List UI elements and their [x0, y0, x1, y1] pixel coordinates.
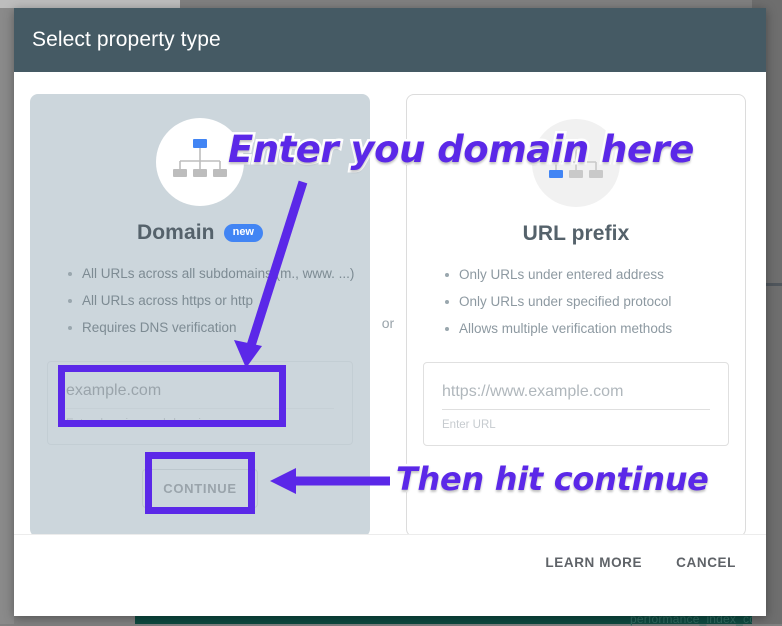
domain-card-title-row: Domain new [137, 220, 263, 246]
list-item: Allows multiple verification methods [445, 319, 672, 339]
url-prefix-hierarchy-icon [532, 119, 620, 207]
domain-input-hint: Enter domain or subdomain [66, 418, 334, 430]
cancel-button[interactable]: CANCEL [666, 546, 746, 579]
list-item: All URLs across all subdomains (m., www.… [68, 264, 354, 284]
background-top-strip [0, 0, 180, 8]
url-prefix-input[interactable]: https://www.example.com [442, 383, 710, 410]
list-item: Requires DNS verification [68, 318, 354, 338]
domain-hierarchy-icon [156, 118, 244, 206]
url-prefix-input-zone[interactable]: https://www.example.com Enter URL [423, 362, 729, 446]
dialog-body: Domain new All URLs across all subdomain… [14, 72, 766, 537]
url-prefix-card-title-row: URL prefix [523, 221, 630, 247]
list-item: All URLs across https or http [68, 291, 354, 311]
list-item: Only URLs under specified protocol [445, 292, 672, 312]
status-badge: new [224, 224, 263, 242]
learn-more-button[interactable]: LEARN MORE [535, 546, 652, 579]
page-title: Select property type [32, 28, 221, 52]
dialog-footer: LEARN MORE CANCEL [14, 534, 766, 590]
domain-card-bullets: All URLs across all subdomains (m., www.… [30, 264, 354, 345]
dialog-header: Select property type [14, 8, 766, 72]
url-prefix-card-title: URL prefix [523, 222, 630, 246]
domain-card-title: Domain [137, 221, 215, 245]
url-prefix-input-hint: Enter URL [442, 419, 710, 431]
property-card-domain[interactable]: Domain new All URLs across all subdomain… [30, 94, 370, 537]
or-separator: or [370, 315, 406, 331]
property-card-url-prefix[interactable]: URL prefix Only URLs under entered addre… [406, 94, 746, 537]
list-item: Only URLs under entered address [445, 265, 672, 285]
domain-input-zone[interactable]: example.com Enter domain or subdomain [47, 361, 353, 445]
select-property-type-dialog: Select property type Domain new All URLs… [14, 8, 766, 616]
domain-input[interactable]: example.com [66, 382, 334, 409]
background-left-strip [0, 8, 14, 624]
continue-button[interactable]: CONTINUE [142, 469, 258, 508]
url-prefix-card-bullets: Only URLs under entered address Only URL… [407, 265, 672, 346]
